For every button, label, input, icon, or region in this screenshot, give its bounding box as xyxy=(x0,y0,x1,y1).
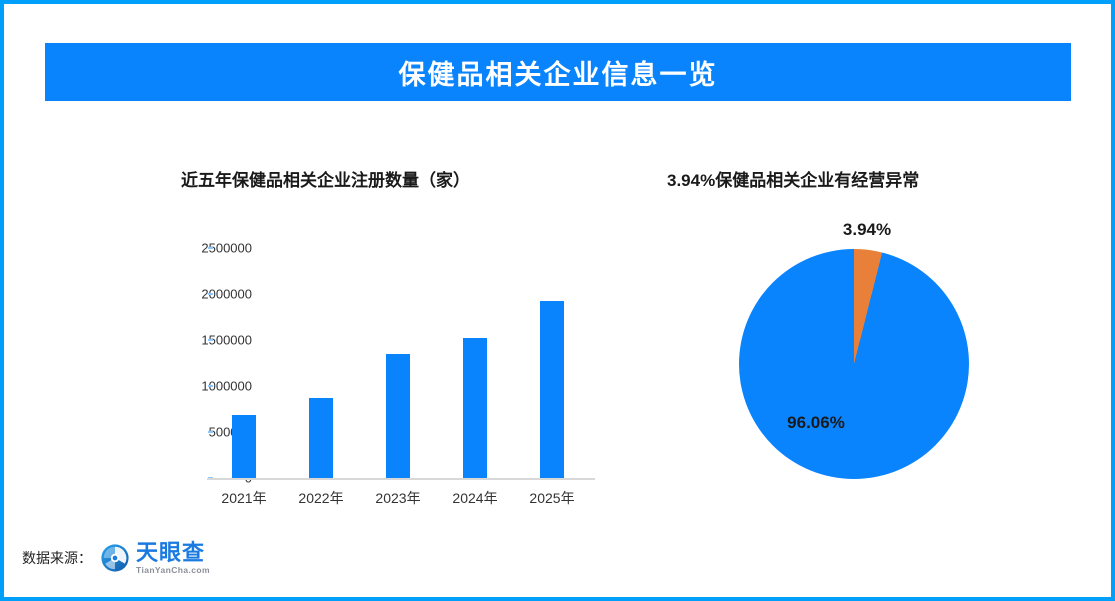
brand-text: 天眼查 TianYanCha.com xyxy=(136,542,210,575)
tianyancha-logo[interactable]: 天眼查 TianYanCha.com xyxy=(100,542,210,575)
bar-2025[interactable] xyxy=(540,301,564,478)
y-axis-tick-mark xyxy=(208,339,213,341)
pie-chart-title: 3.94%保健品相关企业有经营异常 xyxy=(667,166,919,191)
y-axis-tick-mark xyxy=(208,247,213,249)
y-axis-tick-label: 2500000 xyxy=(132,241,252,256)
pie-chart: 3.94% 96.06% xyxy=(664,214,1004,504)
data-source-label: 数据来源： xyxy=(22,548,92,568)
bar-chart: 2500000 2000000 1500000 1000000 500000 0… xyxy=(124,232,604,522)
tianyancha-lens-icon xyxy=(100,543,130,573)
y-axis-tick-label: 1000000 xyxy=(132,379,252,394)
bar-2021[interactable] xyxy=(232,415,256,478)
bar-chart-title: 近五年保健品相关企业注册数量（家） xyxy=(181,166,470,191)
pie-slice-label-normal: 96.06% xyxy=(756,413,876,433)
page-title: 保健品相关企业信息一览 xyxy=(399,53,718,92)
x-axis-line xyxy=(207,478,595,480)
y-axis-tick-mark xyxy=(208,431,213,433)
y-axis-tick-label: 2000000 xyxy=(132,287,252,302)
infographic-page: 保健品相关企业信息一览 近五年保健品相关企业注册数量（家） 2500000 20… xyxy=(0,0,1115,601)
y-axis-tick-label: 1500000 xyxy=(132,333,252,348)
x-axis-label-2025: 2025年 xyxy=(507,488,597,508)
bar-2023[interactable] xyxy=(386,354,410,478)
bar-2024[interactable] xyxy=(463,338,487,478)
y-axis-tick-mark xyxy=(208,385,213,387)
pie-slice-label-abnormal: 3.94% xyxy=(807,220,927,240)
brand-domain: TianYanCha.com xyxy=(136,566,210,575)
footer: 数据来源： 天眼查 TianYanCha.com xyxy=(22,542,210,575)
bar-2022[interactable] xyxy=(309,398,333,478)
header-banner: 保健品相关企业信息一览 xyxy=(45,43,1071,101)
pie-circle[interactable] xyxy=(739,249,969,479)
y-axis-tick-mark xyxy=(208,293,213,295)
brand-name: 天眼查 xyxy=(136,542,210,564)
